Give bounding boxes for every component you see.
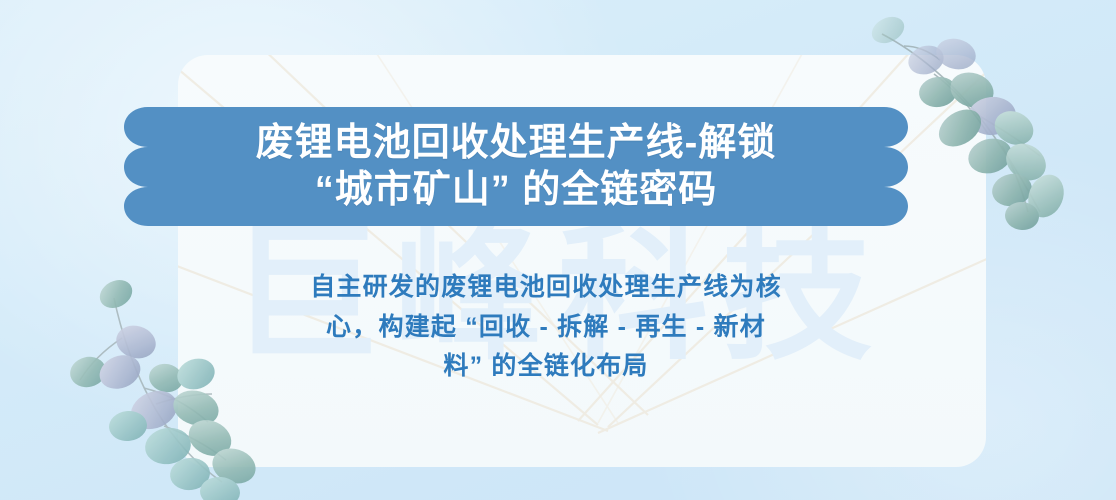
subtitle-line-3: 料” 的全链化布局: [216, 347, 876, 387]
title-banner: 废锂电池回收处理生产线-解锁 “城市矿山” 的全链密码: [124, 107, 908, 226]
subtitle-line-1: 自主研发的废锂电池回收处理生产线为核: [216, 268, 876, 308]
title-line-2: “城市矿山” 的全链密码: [315, 168, 718, 213]
title-text: 废锂电池回收处理生产线-解锁 “城市矿山” 的全链密码: [124, 107, 908, 226]
subtitle-block: 自主研发的废锂电池回收处理生产线为核 心，构建起 “回收 - 拆解 - 再生 -…: [216, 268, 876, 387]
poster-canvas: 巨峰科技 废锂电池回收处理生产线-解锁 “城市矿山” 的全链密码 自主研发的废锂…: [0, 0, 1116, 500]
subtitle-line-2: 心，构建起 “回收 - 拆解 - 再生 - 新材: [216, 308, 876, 348]
title-line-1: 废锂电池回收处理生产线-解锁: [256, 121, 777, 166]
